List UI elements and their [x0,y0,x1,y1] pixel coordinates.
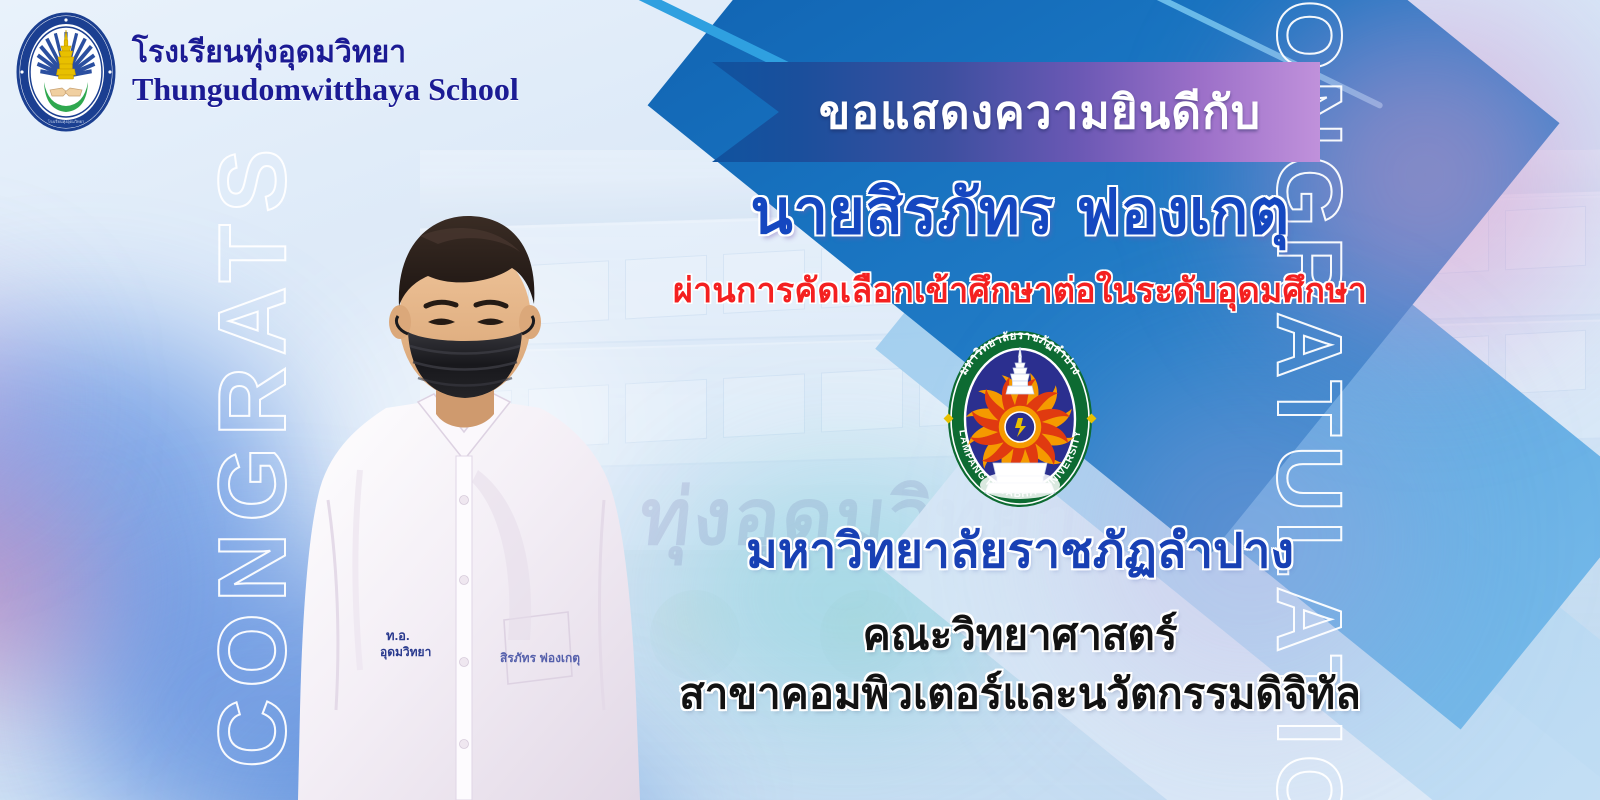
congratulations-ribbon: ขอแสดงความยินดีกับ [712,62,1320,162]
achievement-line: ผ่านการคัดเลือกเข้าศึกษาต่อในระดับอุดมศึ… [660,263,1380,317]
lampang-rajabhat-university-seal-icon: มหาวิทยาลัยราชภัฏลำปาง LAMPANG RAJABHAT … [931,323,1109,511]
school-header: โรงเรียนทุ่งอุดมวิทยา โรงเรียนทุ่งอุดมวิ… [14,10,519,134]
svg-text:ท.อ.: ท.อ. [386,628,410,643]
svg-text:สิรภัทร ฟองเกตุ: สิรภัทร ฟองเกตุ [500,651,580,666]
ribbon-text: ขอแสดงความยินดีกับ [771,76,1261,149]
student-portrait-photo: ท.อ. อุดมวิทยา สิรภัทร ฟองเกตุ [268,170,668,800]
faculty-name: คณะวิทยาศาสตร์ [660,609,1380,662]
major-name: สาขาคอมพิวเตอร์และนวัตกรรมดิจิทัล [660,668,1380,721]
school-name-thai: โรงเรียนทุ่งอุดมวิทยา [132,36,519,69]
school-name-block: โรงเรียนทุ่งอุดมวิทยา Thungudomwitthaya … [132,36,519,107]
student-name: นายสิรภัทร ฟองเกตุ [660,176,1380,247]
award-content: นายสิรภัทร ฟองเกตุ ผ่านการคัดเลือกเข้าศึ… [660,176,1380,720]
thungudomwitthaya-school-seal-icon: โรงเรียนทุ่งอุดมวิทยา [14,10,118,134]
school-name-english: Thungudomwitthaya School [132,72,519,107]
banner-stage: ทุ่งอุดมวิทยา CONGRATS CONGRATULATIONS [0,0,1600,800]
university-name: มหาวิทยาลัยราชภัฏลำปาง [660,513,1380,589]
university-seal-wrapper: มหาวิทยาลัยราชภัฏลำปาง LAMPANG RAJABHAT … [660,323,1380,511]
svg-text:อุดมวิทยา: อุดมวิทยา [380,645,431,660]
